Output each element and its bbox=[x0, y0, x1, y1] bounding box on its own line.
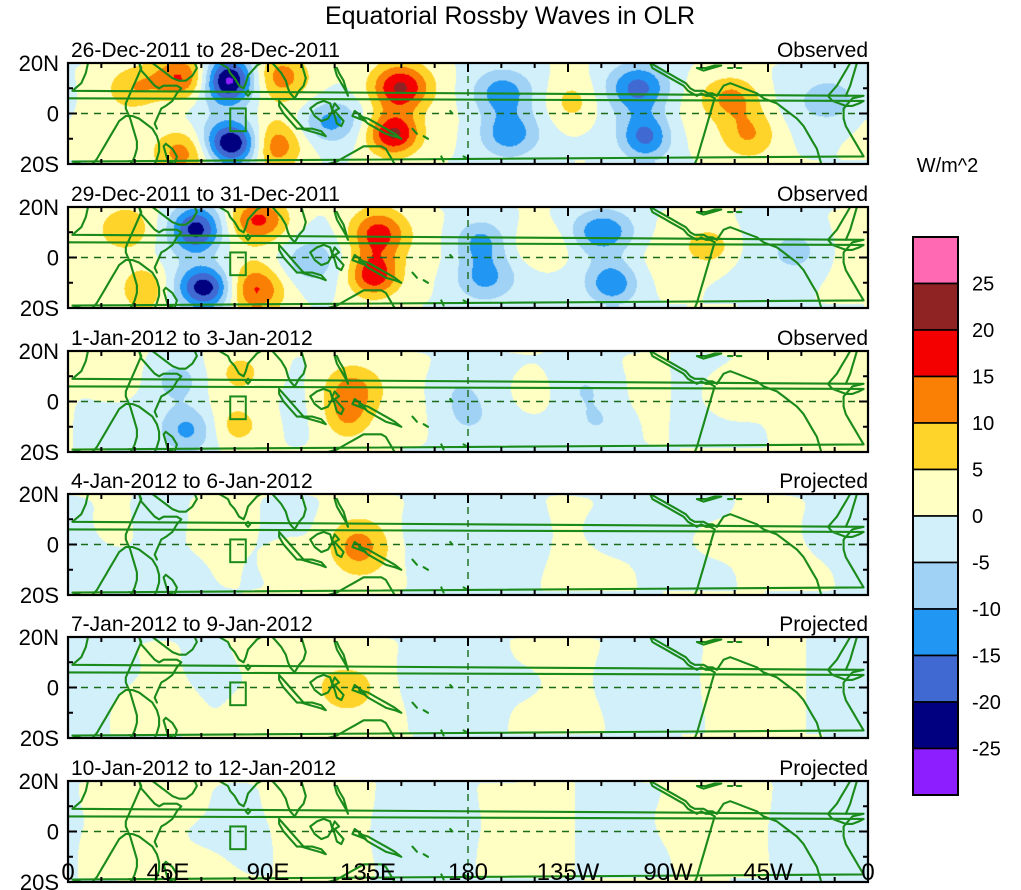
x-tick-label: 0 bbox=[61, 859, 74, 886]
colorbar-tick-label: -5 bbox=[972, 553, 990, 575]
panel-date-range: 4-Jan-2012 to 6-Jan-2012 bbox=[71, 470, 313, 493]
colorbar-band bbox=[913, 656, 958, 703]
colorbar-tick-label: 0 bbox=[972, 506, 983, 528]
x-tick-label: 135W bbox=[537, 859, 600, 886]
colorbar-band bbox=[913, 423, 958, 470]
panel-date-range: 7-Jan-2012 to 9-Jan-2012 bbox=[71, 613, 313, 636]
x-tick-label: 135E bbox=[340, 859, 396, 886]
x-tick-label: 90W bbox=[643, 859, 693, 886]
colorbar-tick-label: 20 bbox=[972, 320, 994, 342]
panel-kind-label: Observed bbox=[777, 327, 868, 350]
x-tick-label: 45E bbox=[147, 859, 190, 886]
x-axis: 045E90E135E180135W90W45W0 bbox=[61, 859, 874, 886]
colorbar-tick-label: 10 bbox=[972, 413, 994, 435]
panel-date-range: 1-Jan-2012 to 3-Jan-2012 bbox=[71, 327, 313, 350]
colorbar-band bbox=[913, 609, 958, 656]
y-tick-label: 0 bbox=[47, 676, 59, 701]
colorbar-band bbox=[913, 702, 958, 749]
colorbar-tick-label: -15 bbox=[972, 646, 1001, 668]
colorbar-band bbox=[913, 330, 958, 377]
colorbar-band bbox=[913, 749, 958, 796]
colorbar-band bbox=[913, 470, 958, 517]
panel-kind-label: Projected bbox=[779, 470, 868, 493]
y-tick-label: 0 bbox=[47, 102, 59, 127]
y-tick-label: 20S bbox=[20, 296, 59, 321]
panel-date-range: 26-Dec-2011 to 28-Dec-2011 bbox=[71, 39, 340, 62]
panel-kind-label: Projected bbox=[779, 757, 868, 780]
colorbar-unit-label: W/m^2 bbox=[917, 155, 979, 177]
y-tick-label: 0 bbox=[47, 533, 59, 558]
panel-date-range: 29-Dec-2011 to 31-Dec-2011 bbox=[71, 183, 340, 206]
colorbar-tick-label: 25 bbox=[972, 274, 994, 296]
colorbar-tick-label: 15 bbox=[972, 367, 994, 389]
panel-kind-label: Observed bbox=[777, 39, 868, 62]
page-title: Equatorial Rossby Waves in OLR bbox=[325, 2, 695, 30]
colorbar-tick-label: -10 bbox=[972, 599, 1001, 621]
colorbar-band bbox=[913, 237, 958, 284]
y-tick-label: 20N bbox=[19, 339, 59, 364]
y-tick-label: 20S bbox=[20, 152, 59, 177]
colorbar-band bbox=[913, 516, 958, 563]
colorbar-band bbox=[913, 563, 958, 610]
y-tick-label: 20N bbox=[19, 482, 59, 507]
y-tick-label: 0 bbox=[47, 246, 59, 271]
colorbar-tick-label: 5 bbox=[972, 460, 983, 482]
colorbar-tick-label: -20 bbox=[972, 692, 1001, 714]
panel-kind-label: Observed bbox=[777, 183, 868, 206]
y-tick-label: 20S bbox=[20, 870, 59, 890]
y-tick-label: 0 bbox=[47, 390, 59, 415]
y-tick-label: 20N bbox=[19, 625, 59, 650]
colorbar-tick-label: -25 bbox=[972, 739, 1001, 761]
x-tick-label: 180 bbox=[448, 859, 488, 886]
colorbar-band bbox=[913, 284, 958, 331]
x-tick-label: 0 bbox=[861, 859, 874, 886]
y-tick-label: 20S bbox=[20, 583, 59, 608]
y-tick-label: 20N bbox=[19, 769, 59, 794]
panel-date-range: 10-Jan-2012 to 12-Jan-2012 bbox=[71, 757, 336, 780]
x-tick-label: 90E bbox=[247, 859, 290, 886]
x-tick-label: 45W bbox=[743, 859, 793, 886]
y-tick-label: 20S bbox=[20, 440, 59, 465]
y-tick-label: 20S bbox=[20, 726, 59, 751]
y-tick-label: 20N bbox=[19, 195, 59, 220]
panel-kind-label: Projected bbox=[779, 613, 868, 636]
y-tick-label: 0 bbox=[47, 820, 59, 845]
colorbar-band bbox=[913, 377, 958, 424]
y-tick-label: 20N bbox=[19, 51, 59, 76]
figure-root: Equatorial Rossby Waves in OLR 20N020S26… bbox=[0, 0, 1021, 890]
